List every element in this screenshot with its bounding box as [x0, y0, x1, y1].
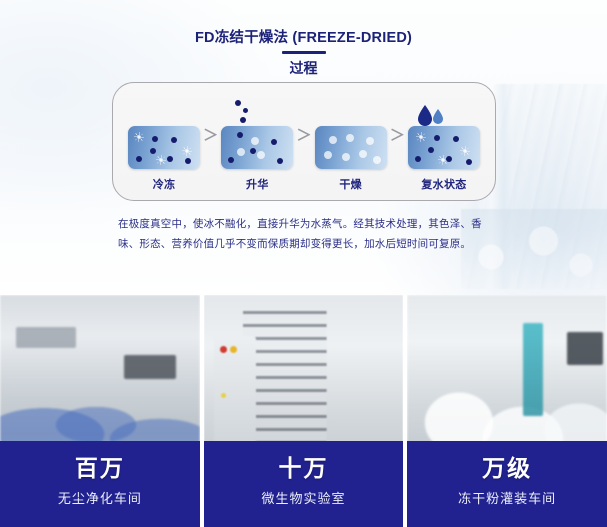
facility-grade: 十万 [210, 455, 398, 481]
particle-dot [277, 158, 283, 164]
particle-dot [250, 148, 256, 154]
stage-diagram-dried [315, 126, 387, 169]
section-subtitle: 过程 [0, 58, 607, 78]
particle-dot [237, 132, 243, 138]
particle-dot [152, 136, 158, 142]
escaping-vapor-dot [240, 117, 246, 123]
pore-void [359, 150, 367, 158]
facility-card-list: 百万 无尘净化车间 十万 微生物实验室 万级 冻干粉灌装车间 [0, 295, 607, 527]
facility-name: 冻干粉灌装车间 [413, 488, 601, 507]
stage-arrow-1: ＞ [203, 128, 218, 143]
particle-dot [271, 139, 277, 145]
snowflake-icon [182, 146, 192, 156]
stage-label-freeze: 冷冻 [153, 176, 176, 192]
facility-caption-band: 百万 无尘净化车间 [0, 441, 200, 527]
stage-arrow-3: ＞ [390, 128, 405, 143]
particle-dot [415, 156, 421, 162]
facility-name: 无尘净化车间 [6, 488, 194, 507]
particle-dot [428, 147, 434, 153]
pore-void [329, 136, 337, 144]
pore-void [324, 151, 332, 159]
process-stage-sublimation: 升华 [218, 83, 296, 200]
pore-void [342, 153, 350, 161]
process-description: 在极度真空中，使冰不融化，直接升华为水蒸气。经其技术处理，其色泽、香味、形态、营… [118, 214, 500, 255]
title-divider [282, 51, 326, 54]
particle-dot [136, 156, 142, 162]
stage-diagram-sublimation [221, 126, 293, 169]
facility-card-filling-workshop[interactable]: 万级 冻干粉灌装车间 [407, 295, 607, 527]
particle-dot [466, 159, 472, 165]
facility-name: 微生物实验室 [210, 488, 398, 507]
snowflake-icon [460, 146, 470, 156]
particle-dot [171, 137, 177, 143]
facility-caption-band: 十万 微生物实验室 [204, 441, 404, 527]
pore-void [366, 137, 374, 145]
snowflake-icon [156, 155, 166, 165]
particle-dot [185, 158, 191, 164]
process-stage-freeze: 冷冻 [125, 83, 203, 200]
facility-grade: 万级 [413, 455, 601, 481]
stage-diagram-freeze [128, 126, 200, 169]
water-droplet-icon [414, 104, 448, 126]
particle-dot [167, 156, 173, 162]
particle-dot [453, 136, 459, 142]
snowflake-icon [134, 132, 144, 142]
process-stage-rehydrated: 复水状态 [405, 83, 483, 200]
particle-dot [150, 148, 156, 154]
snowflake-icon [416, 132, 426, 142]
facility-card-cleanroom[interactable]: 百万 无尘净化车间 [0, 295, 200, 527]
stage-label-dried: 干燥 [339, 176, 362, 192]
facility-grade: 百万 [6, 455, 194, 481]
freeze-dried-section: FD冻结干燥法 (FREEZE-DRIED) 过程 冷冻 ＞ [0, 0, 607, 295]
process-panel: 冷冻 ＞ [112, 82, 496, 201]
pore-void [257, 151, 265, 159]
process-stage-list: 冷冻 ＞ [113, 83, 495, 200]
escaping-vapor-dot [235, 100, 241, 106]
particle-dot [446, 156, 452, 162]
stage-arrow-2: ＞ [296, 128, 311, 143]
pore-void [237, 148, 245, 156]
particle-dot [228, 157, 234, 163]
pore-void [373, 156, 381, 164]
stage-label-sublimation: 升华 [246, 176, 269, 192]
facility-caption-band: 万级 冻干粉灌装车间 [407, 441, 607, 527]
facility-card-lab[interactable]: 十万 微生物实验室 [204, 295, 404, 527]
stage-diagram-rehydrated [408, 126, 480, 169]
process-stage-dried: 干燥 [312, 83, 390, 200]
particle-dot [434, 135, 440, 141]
stage-label-rehydrated: 复水状态 [421, 176, 466, 192]
escaping-vapor-dot [243, 108, 248, 113]
pore-void [251, 137, 259, 145]
pore-void [346, 134, 354, 142]
page-title: FD冻结干燥法 (FREEZE-DRIED) [0, 26, 607, 47]
